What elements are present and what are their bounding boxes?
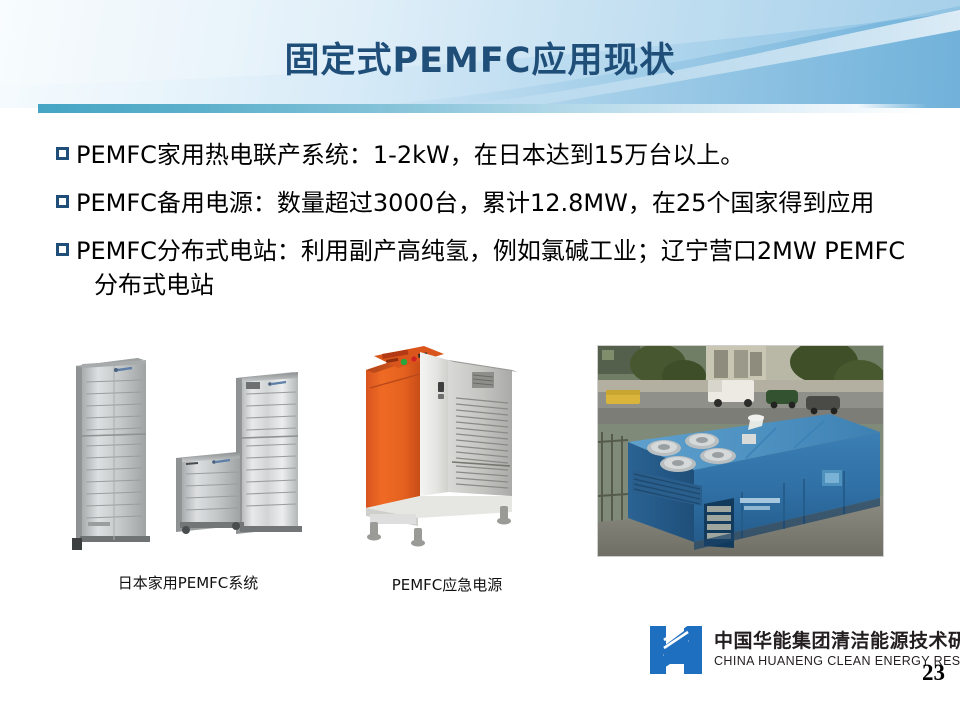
- huaneng-h-logo-icon: [648, 624, 704, 676]
- bullet-item-3-text: PEMFC分布式电站：利用副产高纯氢，例如氯碱工业；辽宁营口2MW PEMFC …: [76, 234, 916, 302]
- bullet-item-1-text: PEMFC家用热电联产系统：1-2kW，在日本达到15万台以上。: [76, 138, 916, 172]
- pemfc-emergency-power-supply-image: [352, 346, 542, 561]
- figure-pemfc-emergency-power-supply: PEMFC应急电源: [352, 346, 542, 561]
- figure-2-caption: PEMFC应急电源: [342, 574, 552, 595]
- figure-pemfc-distributed-generation-system: PEMFC分布式发电系统: [597, 345, 884, 557]
- slide-header: 固定式PEMFC应用现状: [0, 0, 960, 108]
- footer-logo: 中国华能集团清洁能源技术研究院 CHINA HUANENG CLEAN ENER…: [648, 622, 948, 680]
- bullet-list: PEMFC家用热电联产系统：1-2kW，在日本达到15万台以上。 PEMFC备用…: [56, 138, 916, 316]
- logo-company-name-cn: 中国华能集团清洁能源技术研究院: [714, 626, 960, 653]
- japan-household-pemfc-system-image: [58, 350, 318, 550]
- hollow-square-bullet-icon: [56, 243, 69, 256]
- yellow-vehicle: [606, 390, 640, 404]
- figure-japan-household-pemfc-system: 日本家用PEMFC系统: [58, 350, 318, 550]
- hollow-square-bullet-icon: [56, 195, 69, 208]
- bullet-item-1-line-1: PEMFC家用热电联产系统：1-2kW，在日本达到15万台以上。: [76, 141, 744, 169]
- page-number: 23: [922, 660, 945, 686]
- bullet-item-2-line-1: PEMFC备用电源：数量超过3000台，累计12.8MW，在25个国家得到应用: [76, 189, 874, 217]
- bullet-item-2: PEMFC备用电源：数量超过3000台，累计12.8MW，在25个国家得到应用: [56, 186, 916, 220]
- figure-1-caption: 日本家用PEMFC系统: [53, 572, 323, 593]
- cabinet-middle: [176, 452, 244, 534]
- cabinet-right: [236, 372, 302, 534]
- bullet-item-3: PEMFC分布式电站：利用副产高纯氢，例如氯碱工业；辽宁营口2MW PEMFC …: [56, 234, 916, 302]
- slide: 固定式PEMFC应用现状 PEMFC家用热电联产系统：1-2kW，在日本达到15…: [0, 0, 960, 720]
- pemfc-distributed-generation-system-image: [598, 346, 883, 556]
- figure-row: 日本家用PEMFC系统: [0, 340, 960, 610]
- cabinet-left: [72, 358, 150, 550]
- header-accent-bar: [38, 104, 928, 113]
- hollow-square-bullet-icon: [56, 147, 69, 160]
- bullet-item-1: PEMFC家用热电联产系统：1-2kW，在日本达到15万台以上。: [56, 138, 916, 172]
- bullet-item-3-line-1: PEMFC分布式电站：利用副产高纯氢，例如氯碱工业；辽宁营口2MW PEMFC: [76, 237, 905, 265]
- page-title: 固定式PEMFC应用现状: [0, 32, 960, 83]
- bullet-item-3-line-2: 分布式电站: [76, 268, 916, 302]
- bullet-item-2-text: PEMFC备用电源：数量超过3000台，累计12.8MW，在25个国家得到应用: [76, 186, 916, 220]
